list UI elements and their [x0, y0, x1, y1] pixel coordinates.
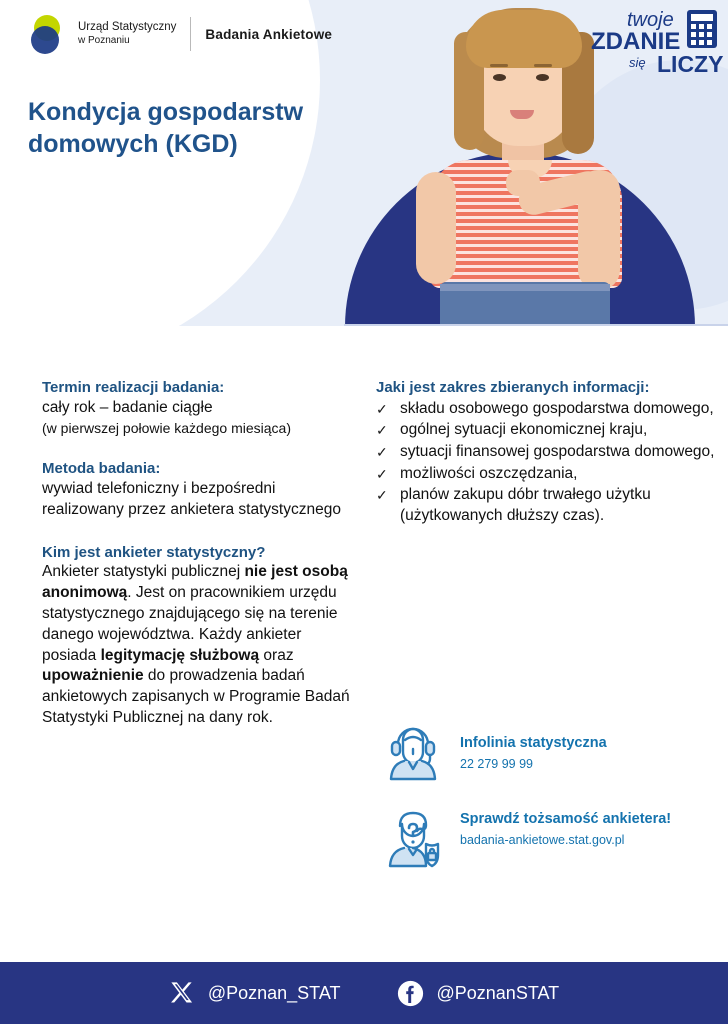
contact-phone[interactable]: 22 279 99 99 [460, 755, 607, 773]
scope-check-list: ✓ składu osobowego gospodarstwa domowego… [376, 399, 716, 527]
badge-line-3: LICZY [657, 51, 723, 77]
contact-hotline: Infolinia statystyczna 22 279 99 99 [382, 716, 722, 784]
page-title: Kondycja gospodarstw domowych (KGD) [28, 96, 358, 160]
jeans [440, 282, 610, 330]
section-heading: Kim jest ankieter statystyczny? [42, 543, 354, 563]
social-handle-facebook[interactable]: @PoznanSTAT [437, 983, 560, 1004]
social-link-facebook[interactable]: @PoznanSTAT [397, 980, 560, 1007]
jeans-waistband [440, 284, 610, 291]
poster-root: Urząd Statystyczny w Poznaniu Badania An… [0, 0, 728, 1024]
contact-identity: Sprawdź tożsamość ankietera! badania-ank… [382, 804, 722, 872]
eyebrow-left [490, 64, 508, 67]
check-icon: ✓ [376, 442, 390, 462]
surveyor-bold-3: upoważnienie [42, 667, 144, 684]
list-item: ✓ planów zakupu dóbr trwałego użytku (uż… [376, 485, 716, 526]
logo-line-2: w Poznaniu [78, 35, 176, 48]
list-item: ✓ możliwości oszczędzania, [376, 464, 716, 485]
contact-section: Infolinia statystyczna 22 279 99 99 [382, 716, 722, 892]
logo-line-1: Urząd Statystyczny [78, 20, 176, 35]
hand-pointing [506, 170, 540, 196]
section-ankieter: Kim jest ankieter statystyczny? Ankieter… [42, 543, 354, 729]
eyebrow-right [534, 64, 552, 67]
surveyor-text-part1: Ankieter statystyki publicznej [42, 563, 244, 580]
section-heading: Termin realizacji badania: [42, 378, 354, 398]
contact-title: Infolinia statystyczna [460, 734, 607, 753]
section-termin: Termin realizacji badania: cały rok – ba… [42, 378, 354, 437]
header-title: Badania Ankietowe [205, 27, 332, 42]
header-divider [190, 17, 191, 51]
footer-bar: @Poznan_STAT @PoznanSTAT [0, 962, 728, 1024]
hero-bottom-mask [0, 326, 728, 338]
check-icon: ✓ [376, 485, 390, 505]
statistical-office-logo-icon [28, 14, 64, 54]
contact-website[interactable]: badania-ankietowe.stat.gov.pl [460, 831, 671, 849]
eye-left [493, 74, 506, 81]
section-body: wywiad telefoniczny i bezpośredni realiz… [42, 479, 354, 521]
badge-line-3-small: się [629, 55, 646, 70]
check-icon: ✓ [376, 464, 390, 484]
social-link-x[interactable]: @Poznan_STAT [169, 980, 341, 1006]
hero-divider-line [344, 324, 728, 326]
list-item: ✓ składu osobowego gospodarstwa domowego… [376, 399, 716, 420]
twoje-zdanie-sie-liczy-badge: twoje ZDANIE się LICZY [585, 4, 725, 84]
logo-circle-blue [31, 26, 59, 54]
hair-fringe [466, 10, 582, 68]
facebook-icon[interactable] [397, 980, 424, 1007]
header-bar: Urząd Statystyczny w Poznaniu Badania An… [28, 14, 332, 54]
right-column: Jaki jest zakres zbieranych informacji: … [376, 378, 716, 527]
check-icon: ✓ [376, 399, 390, 419]
list-item-label: planów zakupu dóbr trwałego użytku (użyt… [400, 485, 716, 526]
section-metoda: Metoda badania: wywiad telefoniczny i be… [42, 459, 354, 520]
eye-right [536, 74, 549, 81]
section-body: Ankieter statystyki publicznej nie jest … [42, 562, 354, 728]
section-body: cały rok – badanie ciągłe [42, 398, 354, 419]
scope-heading: Jaki jest zakres zbieranych informacji: [376, 378, 716, 398]
section-heading: Metoda badania: [42, 459, 354, 479]
logo-wordmark: Urząd Statystyczny w Poznaniu [78, 20, 176, 48]
check-icon: ✓ [376, 420, 390, 440]
list-item-label: składu osobowego gospodarstwa domowego, [400, 399, 714, 420]
section-note: (w pierwszej połowie każdego miesiąca) [42, 419, 354, 438]
list-item-label: możliwości oszczędzania, [400, 464, 577, 485]
headset-operator-icon [382, 716, 444, 784]
x-twitter-icon[interactable] [169, 980, 195, 1006]
calculator-icon [687, 10, 717, 48]
arm-left [416, 172, 456, 284]
list-item: ✓ sytuacji finansowej gospodarstwa domow… [376, 442, 716, 463]
left-column: Termin realizacji badania: cały rok – ba… [42, 378, 354, 729]
surveyor-text-part3: oraz [259, 647, 293, 664]
list-item-label: sytuacji finansowej gospodarstwa domoweg… [400, 442, 714, 463]
identity-verification-icon [382, 804, 444, 872]
list-item: ✓ ogólnej sytuacji ekonomicznej kraju, [376, 420, 716, 441]
contact-text-hotline: Infolinia statystyczna 22 279 99 99 [460, 716, 607, 773]
contact-title: Sprawdź tożsamość ankietera! [460, 810, 671, 829]
surveyor-bold-2: legitymację służbową [101, 647, 260, 664]
social-handle-x[interactable]: @Poznan_STAT [208, 983, 341, 1004]
list-item-label: ogólnej sytuacji ekonomicznej kraju, [400, 420, 647, 441]
contact-text-identity: Sprawdź tożsamość ankietera! badania-ank… [460, 804, 671, 849]
